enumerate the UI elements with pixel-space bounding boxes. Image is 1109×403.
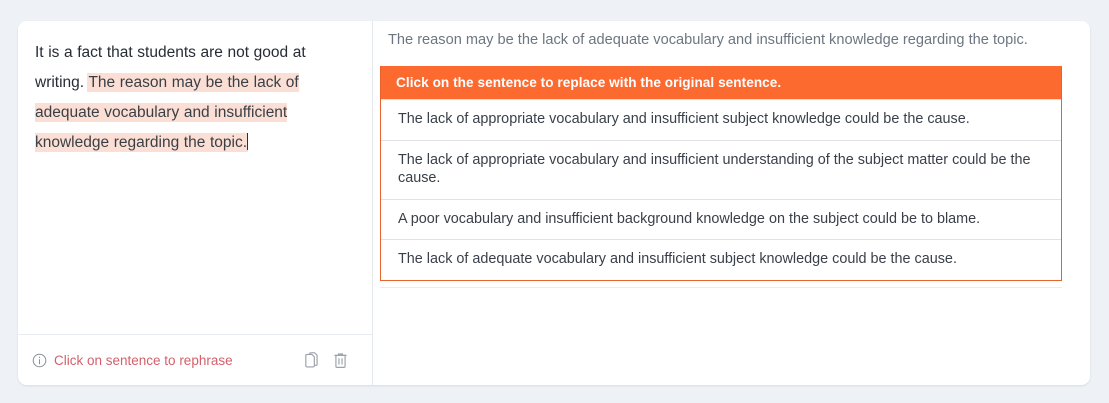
original-sentence-text: The reason may be the lack of adequate v… (388, 32, 1028, 48)
original-sentence-bar: The reason may be the lack of adequate v… (373, 21, 1090, 59)
editor-body[interactable]: It is a fact that students are not good … (18, 21, 372, 334)
text-caret (247, 133, 248, 150)
editor-text: It is a fact that students are not good … (35, 38, 352, 158)
suggestions-box-wrapper: Click on the sentence to replace with th… (373, 59, 1090, 336)
rephrase-tool-card: It is a fact that students are not good … (18, 21, 1090, 385)
rephrase-hint: Click on sentence to rephrase (32, 353, 233, 368)
suggestions-footer (373, 336, 1090, 385)
suggestions-pane: The reason may be the lack of adequate v… (373, 21, 1090, 385)
editor-pane: It is a fact that students are not good … (18, 21, 373, 385)
suggestion-item[interactable]: The lack of appropriate vocabulary and i… (381, 99, 1061, 140)
suggestions-divider (380, 287, 1062, 288)
trash-icon[interactable] (330, 350, 351, 371)
info-circle-icon (32, 353, 47, 368)
suggestion-item[interactable]: A poor vocabulary and insufficient backg… (381, 199, 1061, 240)
rephrase-hint-label: Click on sentence to rephrase (54, 353, 233, 368)
copy-icon[interactable] (300, 350, 321, 371)
suggestion-item[interactable]: The lack of appropriate vocabulary and i… (381, 140, 1061, 199)
suggestion-item[interactable]: The lack of adequate vocabulary and insu… (381, 239, 1061, 280)
suggestions-header: Click on the sentence to replace with th… (381, 66, 1061, 99)
editor-tools (300, 350, 359, 371)
editor-footer: Click on sentence to rephrase (18, 334, 372, 385)
suggestions-box: Click on the sentence to replace with th… (380, 66, 1062, 281)
